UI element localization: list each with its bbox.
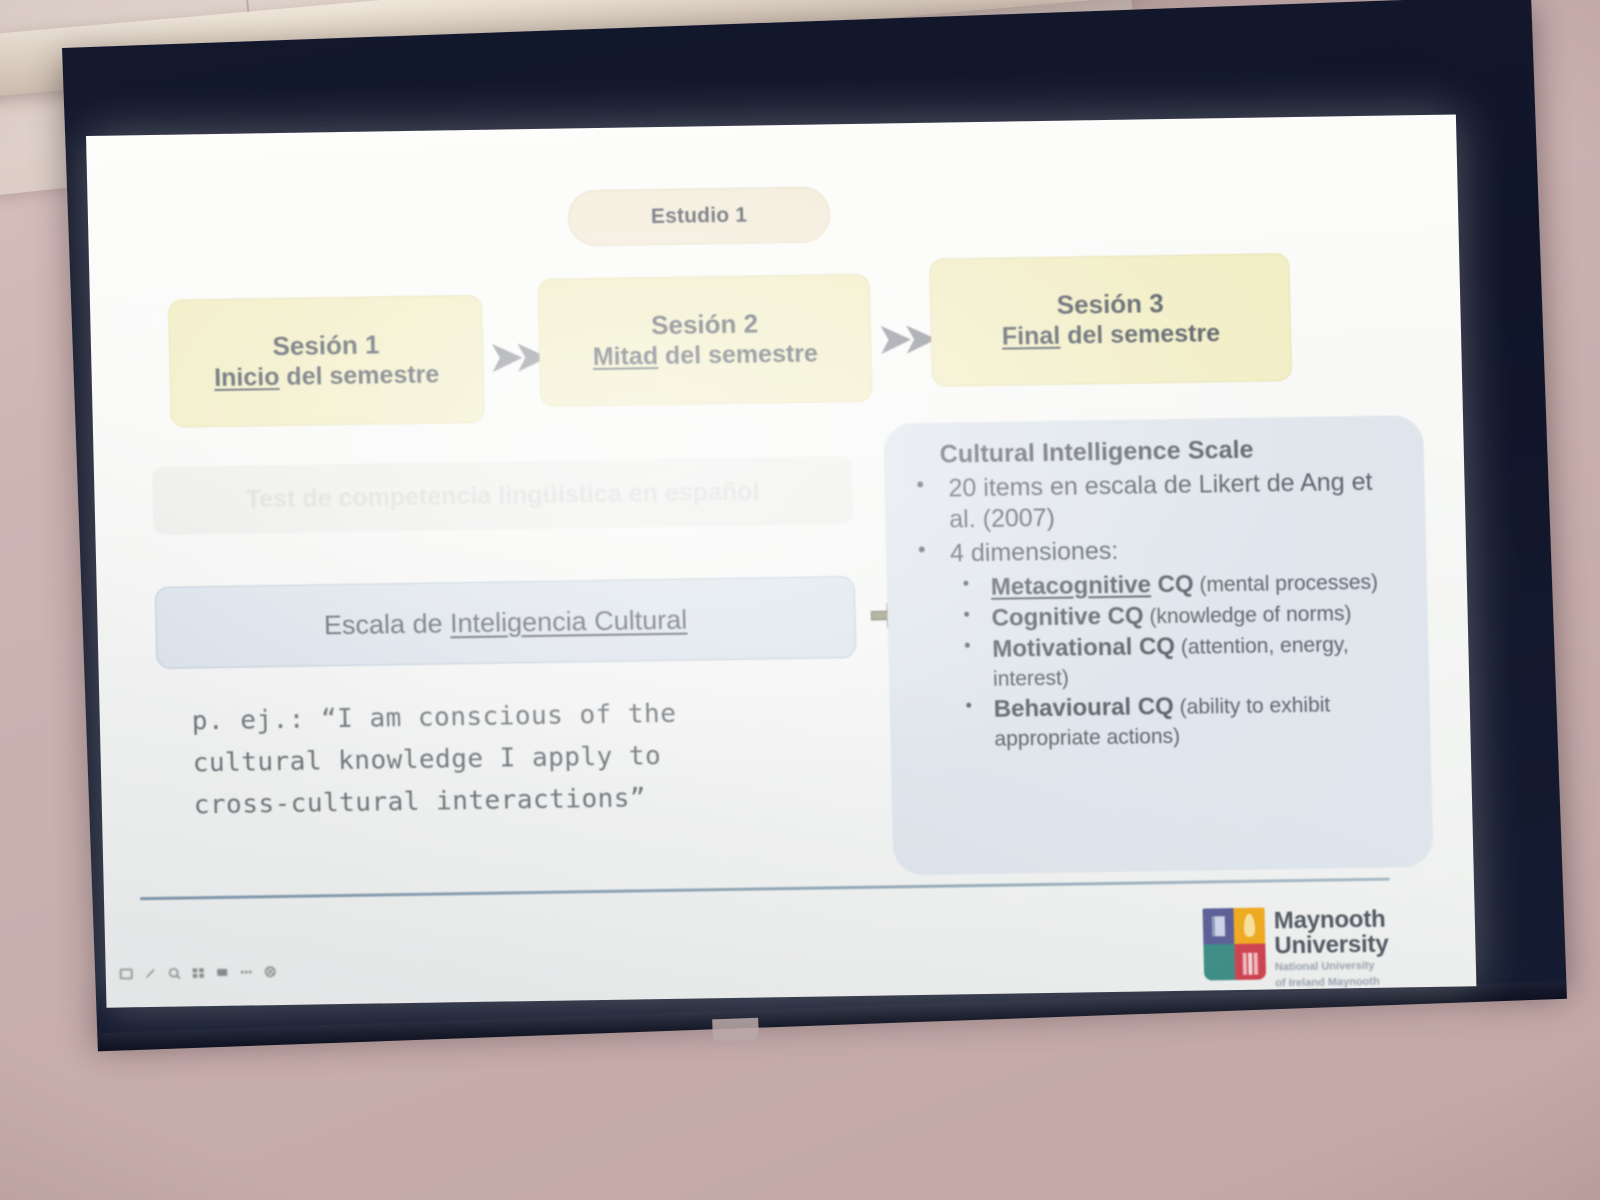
cq-dimension-1-name: Metacognitive xyxy=(991,571,1152,601)
session-2-title: Sesión 2 xyxy=(651,309,759,341)
session-1-subtitle: Inicio del semestre xyxy=(214,360,440,394)
dimmed-measure-label: Test de competencia lingüística en españ… xyxy=(245,477,759,514)
highlighted-measure-underlined: Inteligencia Cultural xyxy=(450,604,688,638)
blank-screen-icon[interactable] xyxy=(216,966,229,979)
grid-view-icon[interactable] xyxy=(192,966,205,979)
columns-icon xyxy=(1243,953,1258,975)
highlighted-measure-prefix: Escala de xyxy=(324,608,451,640)
footer-divider xyxy=(140,878,1390,901)
cq-dimension-3-name: Motivational xyxy=(992,633,1133,662)
cq-bullet-dimensions: 4 dimensiones: Metacognitive CQ (mental … xyxy=(902,531,1409,753)
shield-icon xyxy=(1203,908,1267,981)
cq-dimension-metacognitive: Metacognitive CQ (mental processes) xyxy=(951,566,1406,602)
presenter-toolbar[interactable] xyxy=(120,965,277,980)
cq-dimension-2-tag: CQ xyxy=(1101,602,1144,630)
cq-dimension-2-desc: (knowledge of norms) xyxy=(1143,602,1351,628)
example-quote: p. ej.: “I am conscious of the cultural … xyxy=(191,689,894,826)
logo-line-2: University xyxy=(1274,932,1389,959)
logo-tagline-1: National University xyxy=(1275,960,1389,975)
cq-dimension-list: Metacognitive CQ (mental processes) Cogn… xyxy=(951,566,1409,753)
cq-dimension-2-name: Cognitive xyxy=(991,603,1101,632)
cq-dimension-behavioural: Behavioural CQ (ability to exhibit appro… xyxy=(953,688,1408,753)
session-1-sub-underlined: Inicio xyxy=(214,363,280,392)
session-box-2: Sesión 2 Mitad del semestre xyxy=(537,274,872,407)
cq-dimension-1-tag: CQ xyxy=(1151,570,1194,598)
cq-dimension-cognitive: Cognitive CQ (knowledge of norms) xyxy=(951,597,1406,633)
study-badge-label: Estudio 1 xyxy=(651,204,748,230)
dimmed-measure-box: Test de competencia lingüística en españ… xyxy=(152,456,854,535)
cq-bullet-list: 20 items en escala de Likert de Ang et a… xyxy=(900,466,1409,753)
study-badge: Estudio 1 xyxy=(567,186,830,246)
flame-icon xyxy=(1244,914,1256,936)
cq-bullet-dimensions-label: 4 dimensiones: xyxy=(950,537,1119,568)
cq-panel-title: Cultural Intelligence Scale xyxy=(939,433,1402,469)
session-2-sub-underlined: Mitad xyxy=(592,342,658,371)
session-1-title: Sesión 1 xyxy=(272,330,380,362)
book-icon xyxy=(1211,916,1225,936)
highlighted-measure-label: Escala de Inteligencia Cultural xyxy=(324,604,688,641)
cq-dimension-3-tag: CQ xyxy=(1132,632,1175,660)
screen-pull-tab[interactable] xyxy=(712,1018,759,1042)
pen-icon[interactable] xyxy=(144,967,157,980)
session-box-1: Sesión 1 Inicio del semestre xyxy=(168,295,485,428)
classroom-photo: Estudio 1 Sesión 1 Inicio del semestre ➤… xyxy=(0,0,1600,1200)
magnifier-icon[interactable] xyxy=(168,967,181,980)
more-options-icon[interactable] xyxy=(240,965,253,978)
cq-scale-panel: Cultural Intelligence Scale 20 items en … xyxy=(883,415,1434,875)
cq-dimension-1-desc: (mental processes) xyxy=(1193,570,1378,596)
end-show-icon[interactable] xyxy=(264,965,277,978)
cq-dimension-4-name: Behavioural xyxy=(993,693,1131,722)
session-3-title: Sesión 3 xyxy=(1056,288,1164,320)
highlighted-measure-box: Escala de Inteligencia Cultural xyxy=(155,576,857,669)
session-3-sub-rest: del semestre xyxy=(1060,319,1220,350)
cq-dimension-motivational: Motivational CQ (attention, energy, inte… xyxy=(952,628,1407,693)
slide: Estudio 1 Sesión 1 Inicio del semestre ➤… xyxy=(86,114,1476,1007)
session-2-subtitle: Mitad del semestre xyxy=(592,339,818,373)
session-3-subtitle: Final del semestre xyxy=(1002,318,1221,352)
projected-slide-area: Estudio 1 Sesión 1 Inicio del semestre ➤… xyxy=(86,114,1476,1007)
session-1-sub-rest: del semestre xyxy=(279,361,439,392)
cq-bullet-items: 20 items en escala de Likert de Ang et a… xyxy=(900,466,1403,535)
session-2-sub-rest: del semestre xyxy=(658,340,818,371)
cq-dimension-4-tag: CQ xyxy=(1131,692,1174,720)
slide-thumbnail-icon[interactable] xyxy=(120,967,133,980)
session-3-sub-underlined: Final xyxy=(1002,322,1061,351)
session-box-3: Sesión 3 Final del semestre xyxy=(929,253,1292,387)
maynooth-university-logo: Maynooth University National University … xyxy=(1203,906,1390,992)
